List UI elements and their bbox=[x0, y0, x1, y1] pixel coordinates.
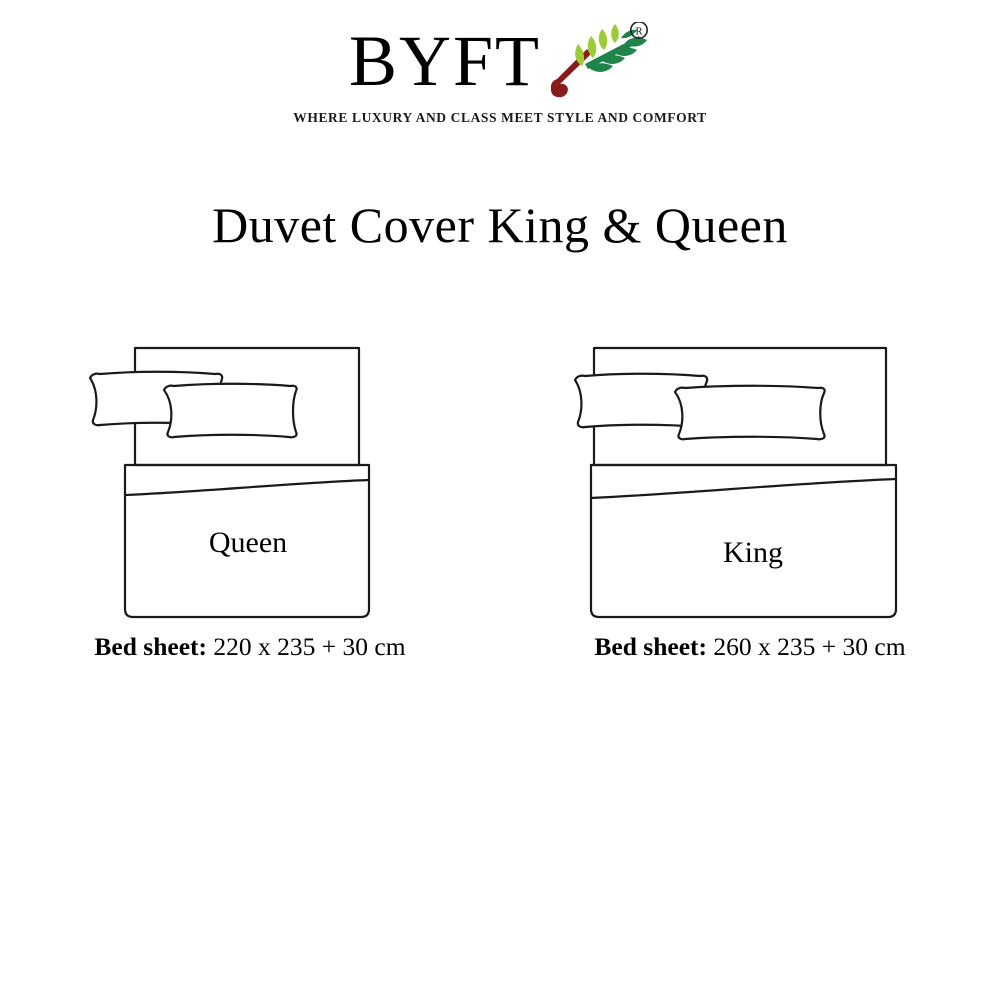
queen-bed-illustration bbox=[40, 330, 460, 630]
wheat-leaf-emblem-icon: R bbox=[547, 22, 651, 100]
bed-diagrams-area: Queen Bed sheet: 220 x 235 + 30 cm bbox=[0, 330, 1000, 690]
brand-header: BYFT bbox=[0, 22, 1000, 126]
queen-caption: Bed sheet: 220 x 235 + 30 cm bbox=[40, 632, 460, 662]
bed-diagram-king: King Bed sheet: 260 x 235 + 30 cm bbox=[540, 330, 960, 630]
svg-text:R: R bbox=[635, 25, 643, 37]
bed-diagram-queen: Queen Bed sheet: 220 x 235 + 30 cm bbox=[40, 330, 460, 630]
king-size-label: King bbox=[543, 536, 963, 570]
queen-caption-key: Bed sheet: bbox=[94, 632, 207, 661]
king-caption-value: 260 x 235 + 30 cm bbox=[713, 632, 905, 661]
king-caption: Bed sheet: 260 x 235 + 30 cm bbox=[540, 632, 960, 662]
page-title: Duvet Cover King & Queen bbox=[0, 196, 1000, 254]
brand-tagline: WHERE LUXURY AND CLASS MEET STYLE AND CO… bbox=[0, 110, 1000, 126]
king-bed-illustration bbox=[540, 330, 960, 630]
queen-caption-value: 220 x 235 + 30 cm bbox=[213, 632, 405, 661]
queen-size-label: Queen bbox=[38, 526, 458, 560]
brand-wordmark: BYFT bbox=[349, 25, 541, 97]
king-caption-key: Bed sheet: bbox=[594, 632, 707, 661]
brand-logo-row: BYFT bbox=[0, 22, 1000, 100]
